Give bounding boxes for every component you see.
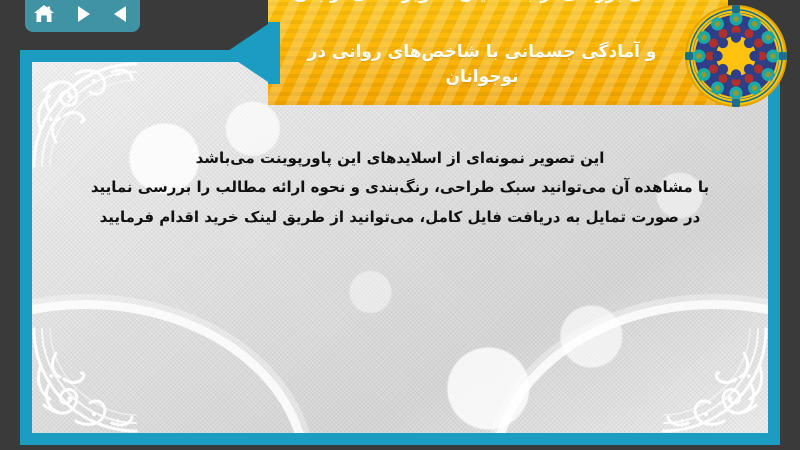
next-slide-button[interactable] xyxy=(70,1,96,27)
triangle-left-icon xyxy=(111,4,131,24)
slide-title: کامل بررسی ارتباط میان تصویر ذهنی از بدن… xyxy=(268,16,728,88)
arabesque-corner-ornament xyxy=(20,325,140,445)
triangle-right-icon xyxy=(73,4,93,24)
arabesque-corner-ornament xyxy=(660,325,780,445)
home-button[interactable] xyxy=(31,1,57,27)
body-line-3: در صورت تمایل به دریافت فایل کامل، می‌تو… xyxy=(72,203,728,232)
title-line-3: نوجوانان xyxy=(282,65,682,89)
slide-title-banner: کامل بررسی ارتباط میان تصویر ذهنی از بدن… xyxy=(268,0,728,105)
slide-navigation-bar xyxy=(25,0,140,32)
slide-canvas: این تصویر نمونه‌ای از اسلایدهای این پاور… xyxy=(32,62,768,433)
banner-left-tab xyxy=(268,22,280,84)
home-icon xyxy=(33,3,55,25)
previous-slide-button[interactable] xyxy=(108,1,134,27)
slide-body-text: این تصویر نمونه‌ای از اسلایدهای این پاور… xyxy=(72,144,728,232)
title-line-2: و آمادگی جسمانی با شاخص‌های روانی در xyxy=(282,40,682,64)
persian-medallion-ornament xyxy=(684,4,788,108)
slide-viewer: این تصویر نمونه‌ای از اسلایدهای این پاور… xyxy=(0,0,800,450)
title-line-1: کامل بررسی ارتباط میان تصویر ذهنی از بدن xyxy=(282,0,682,6)
body-line-2: با مشاهده آن می‌توانید سبک طراحی، رنگ‌بن… xyxy=(72,173,728,202)
slide-frame: این تصویر نمونه‌ای از اسلایدهای این پاور… xyxy=(20,50,780,445)
body-line-1: این تصویر نمونه‌ای از اسلایدهای این پاور… xyxy=(72,144,728,173)
